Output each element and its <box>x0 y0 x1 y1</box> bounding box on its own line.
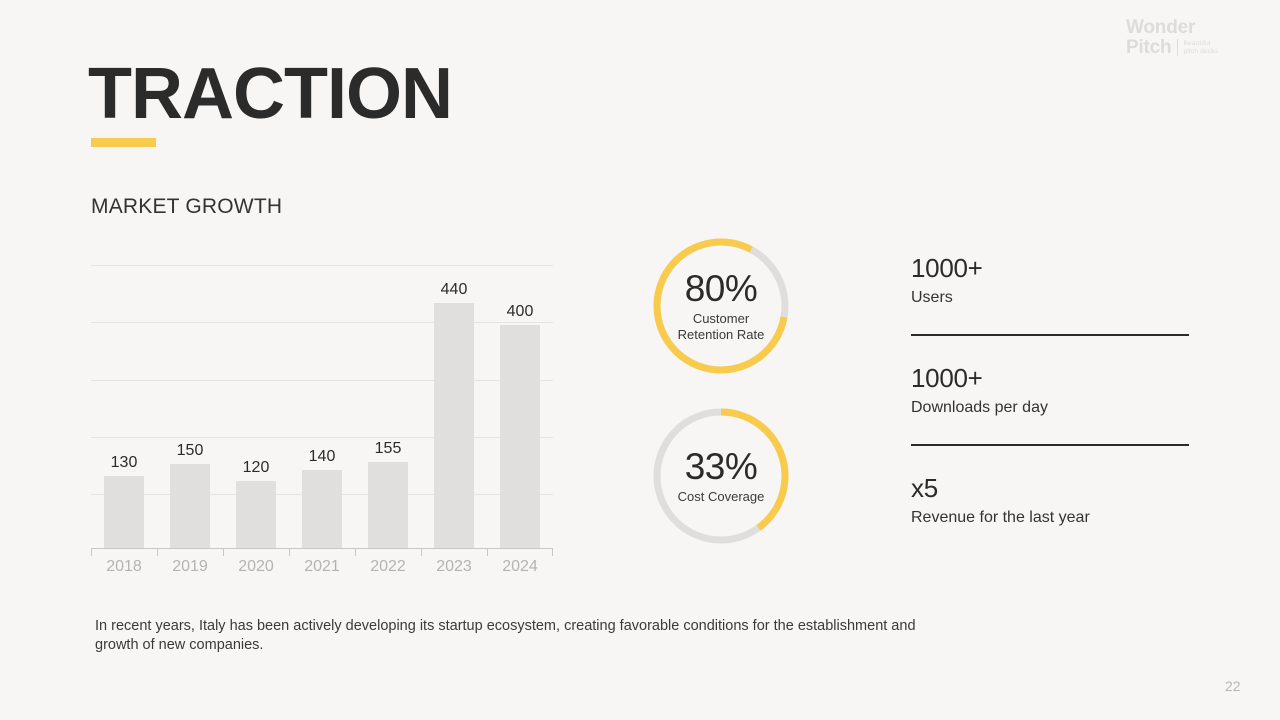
footnote-text: In recent years, Italy has been actively… <box>95 617 925 655</box>
chart-axis-tick <box>487 548 488 556</box>
stat-value: x5 <box>911 472 1189 504</box>
stat-divider <box>911 444 1189 446</box>
chart-bar-column <box>91 258 157 548</box>
chart-axis-tick <box>355 548 356 556</box>
chart-bar-column <box>289 258 355 548</box>
logo-second-row: Pitch Beautiful pitch decks <box>1126 38 1266 58</box>
gauge-percent-value: 33% <box>685 447 758 487</box>
stat-value: 1000+ <box>911 362 1189 394</box>
logo-tagline-line-two: pitch decks <box>1183 48 1218 55</box>
title-accent-bar <box>91 138 156 147</box>
chart-x-tick-label: 2022 <box>355 558 421 576</box>
stat-divider <box>911 334 1189 336</box>
market-growth-bar-chart: 130150120140155440400 201820192020202120… <box>91 258 553 588</box>
slide-traction: Wonder Pitch Beautiful pitch decks TRACT… <box>0 0 1280 720</box>
chart-bar-column <box>223 258 289 548</box>
page-title: TRACTION <box>88 55 452 133</box>
chart-bar-value-label: 150 <box>157 442 223 460</box>
chart-plot-area: 130150120140155440400 <box>91 258 553 548</box>
chart-axis-tick <box>91 548 92 556</box>
page-number: 22 <box>1225 678 1241 694</box>
stat-caption: Revenue for the last year <box>911 507 1189 529</box>
stats-column: 1000+Users1000+Downloads per dayx5Revenu… <box>911 252 1189 529</box>
chart-axis-tick <box>157 548 158 556</box>
chart-axis-tick <box>552 548 553 556</box>
chart-bar-value-label: 440 <box>421 281 487 299</box>
chart-x-tick-label: 2023 <box>421 558 487 576</box>
chart-bar-column <box>355 258 421 548</box>
chart-bar-value-label: 120 <box>223 459 289 477</box>
stat-value: 1000+ <box>911 252 1189 284</box>
chart-bar <box>368 462 408 548</box>
gauge-label: Customer Retention Rate <box>673 311 769 343</box>
stat-block: 1000+Users <box>911 252 1189 309</box>
stat-block: 1000+Downloads per day <box>911 362 1189 419</box>
chart-bar <box>236 481 276 548</box>
chart-x-axis <box>91 548 553 549</box>
logo-divider-icon <box>1177 39 1178 56</box>
chart-bar-value-label: 130 <box>91 454 157 472</box>
chart-bar-column <box>421 258 487 548</box>
gauge-customer-retention: 80%Customer Retention Rate <box>651 236 791 376</box>
chart-bar <box>302 470 342 548</box>
section-label: MARKET GROWTH <box>91 195 282 219</box>
chart-bar-value-label: 140 <box>289 448 355 466</box>
chart-x-tick-label: 2021 <box>289 558 355 576</box>
chart-x-tick-label: 2018 <box>91 558 157 576</box>
chart-x-tick-label: 2020 <box>223 558 289 576</box>
chart-axis-tick <box>289 548 290 556</box>
logo-tagline-line-one: Beautiful <box>1183 40 1210 47</box>
chart-x-tick-label: 2024 <box>487 558 553 576</box>
wonder-pitch-logo: Wonder Pitch Beautiful pitch decks <box>1126 18 1266 66</box>
gauge-center-content: 80%Customer Retention Rate <box>651 236 791 376</box>
chart-x-tick-label: 2019 <box>157 558 223 576</box>
chart-bar <box>170 464 210 548</box>
gauge-center-content: 33%Cost Coverage <box>651 406 791 546</box>
gauge-percent-value: 80% <box>685 269 758 309</box>
chart-bar <box>500 325 540 548</box>
gauge-cost-coverage: 33%Cost Coverage <box>651 406 791 546</box>
chart-bar-column <box>157 258 223 548</box>
chart-bar <box>104 476 144 549</box>
stat-caption: Users <box>911 287 1189 309</box>
logo-tagline: Beautiful pitch decks <box>1183 40 1218 58</box>
gauge-label: Cost Coverage <box>678 489 765 505</box>
chart-bar <box>434 303 474 548</box>
logo-line-one: Wonder <box>1126 18 1266 38</box>
chart-bar-value-label: 400 <box>487 303 553 321</box>
chart-axis-tick <box>421 548 422 556</box>
chart-axis-tick <box>223 548 224 556</box>
stat-caption: Downloads per day <box>911 397 1189 419</box>
chart-bar-value-label: 155 <box>355 440 421 458</box>
logo-line-two: Pitch <box>1126 38 1171 58</box>
chart-bar-column <box>487 258 553 548</box>
stat-block: x5Revenue for the last year <box>911 472 1189 529</box>
